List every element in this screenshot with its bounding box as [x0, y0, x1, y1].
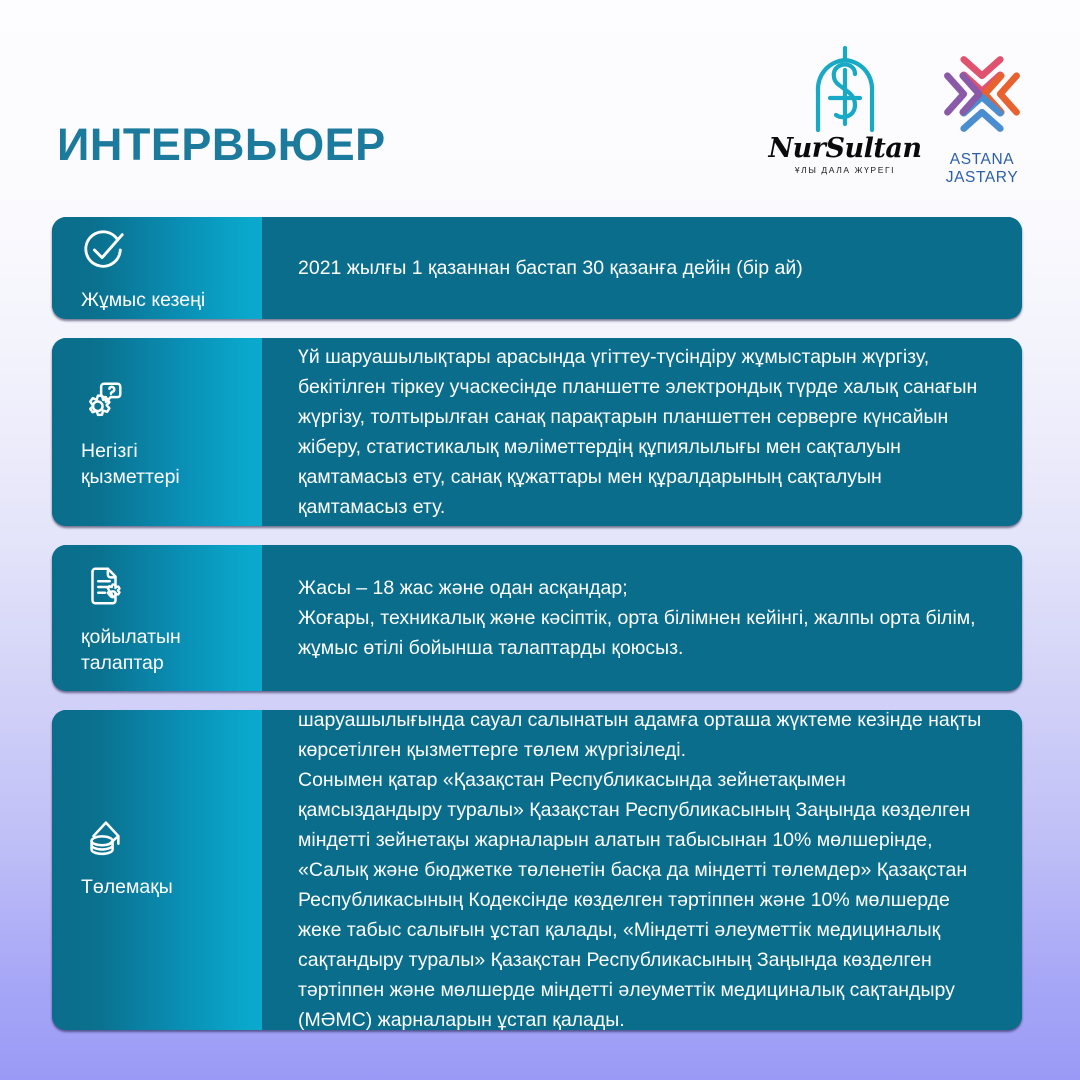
- card-label-text: қойылатын талаптар: [81, 624, 246, 676]
- check-circle-icon: [81, 227, 127, 273]
- card-label-work-period: Жұмыс кезеңі: [52, 217, 262, 319]
- card-label-text: Негізгі қызметтері: [81, 438, 246, 490]
- info-card-requirements: қойылатын талаптар Жасы – 18 жас және од…: [52, 545, 1022, 691]
- info-card-list: Жұмыс кезеңі 2021 жылғы 1 қазаннан баста…: [52, 217, 1022, 1049]
- card-label-main-duties: Негізгі қызметтері: [52, 338, 262, 526]
- card-label-requirements: қойылатын талаптар: [52, 545, 262, 691]
- astana-jastary-line1: ASTANA: [950, 151, 1014, 169]
- infographic-page: ИНТЕРВЬЮЕР NurS: [0, 0, 1080, 1080]
- gear-question-icon: [81, 378, 127, 424]
- card-body-payment: Орындалған жұмыстар актісіне сәйкес 104 …: [262, 710, 1022, 1030]
- astana-jastary-line2: JASTARY: [946, 169, 1019, 187]
- info-card-work-period: Жұмыс кезеңі 2021 жылғы 1 қазаннан баста…: [52, 217, 1022, 319]
- card-label-text: Жұмыс кезеңі: [81, 287, 246, 313]
- info-card-payment: Төлемақы Орындалған жұмыстар актісіне сә…: [52, 710, 1022, 1030]
- document-gear-icon: [81, 564, 127, 610]
- card-body-main-duties: Үй шаруашылықтары арасында үгіттеу-түсін…: [262, 338, 1022, 526]
- nur-sultan-wordmark: NurSultan: [768, 135, 921, 163]
- nur-sultan-tagline: ҰЛЫ ДАЛА ЖҮРЕГІ: [795, 165, 895, 175]
- coins-icon: [81, 814, 127, 860]
- logo-group: NurSultan ҰЛЫ ДАЛА ЖҮРЕГІ: [780, 46, 1032, 187]
- info-card-main-duties: Негізгі қызметтері Үй шаруашылықтары ара…: [52, 338, 1022, 526]
- astana-jastary-rosette-icon: [934, 46, 1030, 147]
- card-body-requirements: Жасы – 18 жас және одан асқандар; Жоғары…: [262, 545, 1022, 691]
- nur-sultan-logo: NurSultan ҰЛЫ ДАЛА ЖҮРЕГІ: [780, 46, 910, 175]
- card-body-work-period: 2021 жылғы 1 қазаннан бастап 30 қазанға …: [262, 217, 1022, 319]
- page-header: ИНТЕРВЬЮЕР NurS: [0, 0, 1080, 205]
- nur-sultan-mark-icon: [797, 46, 893, 137]
- page-title: ИНТЕРВЬЮЕР: [57, 119, 386, 171]
- astana-jastary-logo: ASTANA JASTARY: [932, 46, 1032, 187]
- card-label-payment: Төлемақы: [52, 710, 262, 1030]
- card-label-text: Төлемақы: [81, 874, 246, 900]
